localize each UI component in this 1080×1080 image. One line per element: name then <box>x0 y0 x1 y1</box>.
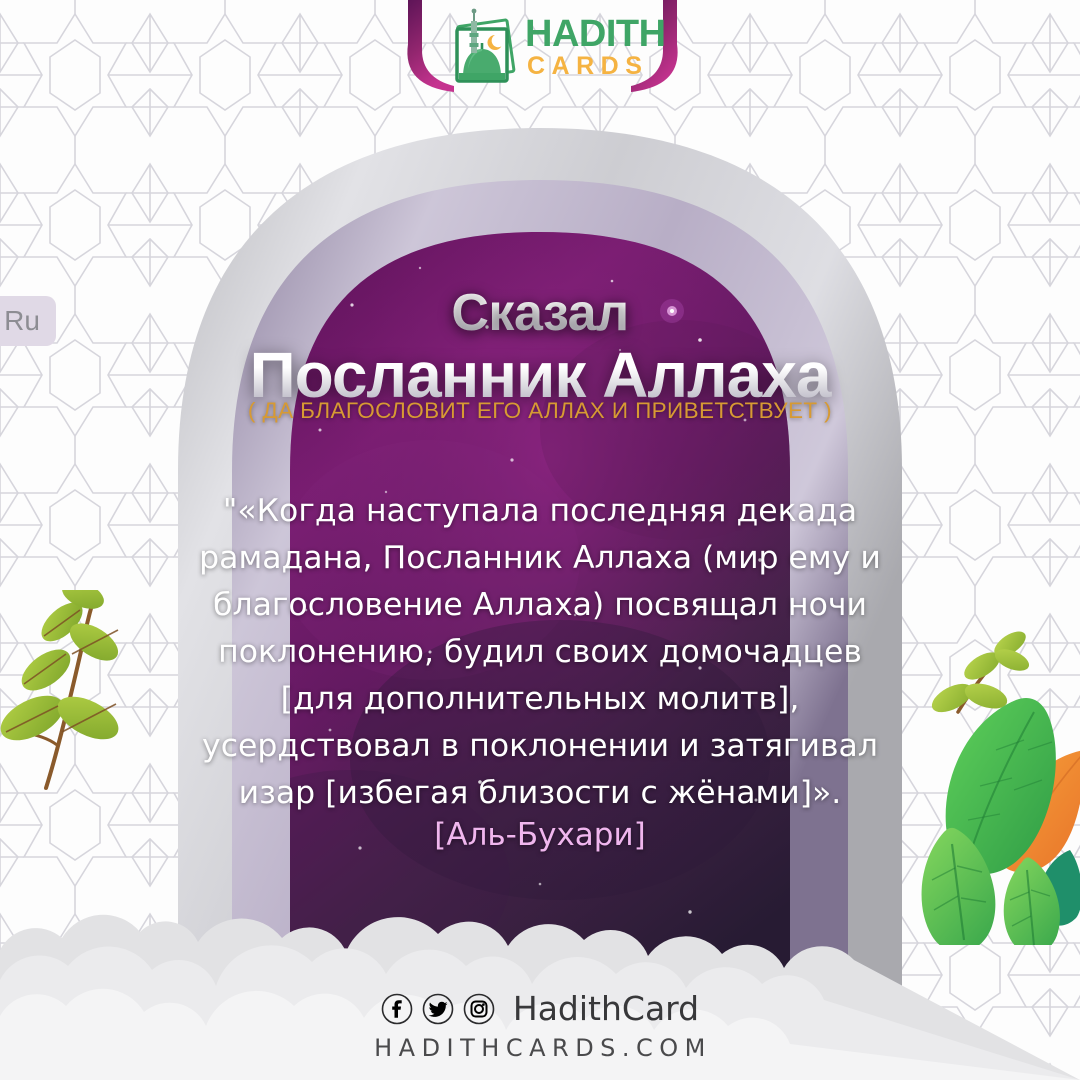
mosque-photo-cards-icon <box>449 7 523 87</box>
footer-social-row: HadithCard <box>0 989 1080 1028</box>
hadith-card-canvas: HADITH CARDS <box>0 0 1080 1080</box>
instagram-icon[interactable] <box>463 993 495 1025</box>
hadith-text: "«Когда наступала последняя декада рамад… <box>195 488 885 817</box>
twitter-icon[interactable] <box>422 993 454 1025</box>
footer: HadithCard HADITHCARDS.COM <box>0 989 1080 1062</box>
facebook-icon[interactable] <box>381 993 413 1025</box>
language-badge-label: Ru <box>4 305 40 337</box>
salutation-text: ( ДА БЛАГОСЛОВИТ ЕГО АЛЛАХ И ПРИВЕТСТВУЕ… <box>0 398 1080 424</box>
brand-logo[interactable]: HADITH CARDS <box>449 6 639 88</box>
logo-text-hadith: HADITH <box>525 15 666 53</box>
footer-domain: HADITHCARDS.COM <box>6 1034 1080 1062</box>
footer-handle: HadithCard <box>513 989 699 1028</box>
language-badge[interactable]: Ru <box>0 296 56 346</box>
said-heading: Сказал <box>0 283 1080 343</box>
logo-text-cards: CARDS <box>527 54 666 79</box>
